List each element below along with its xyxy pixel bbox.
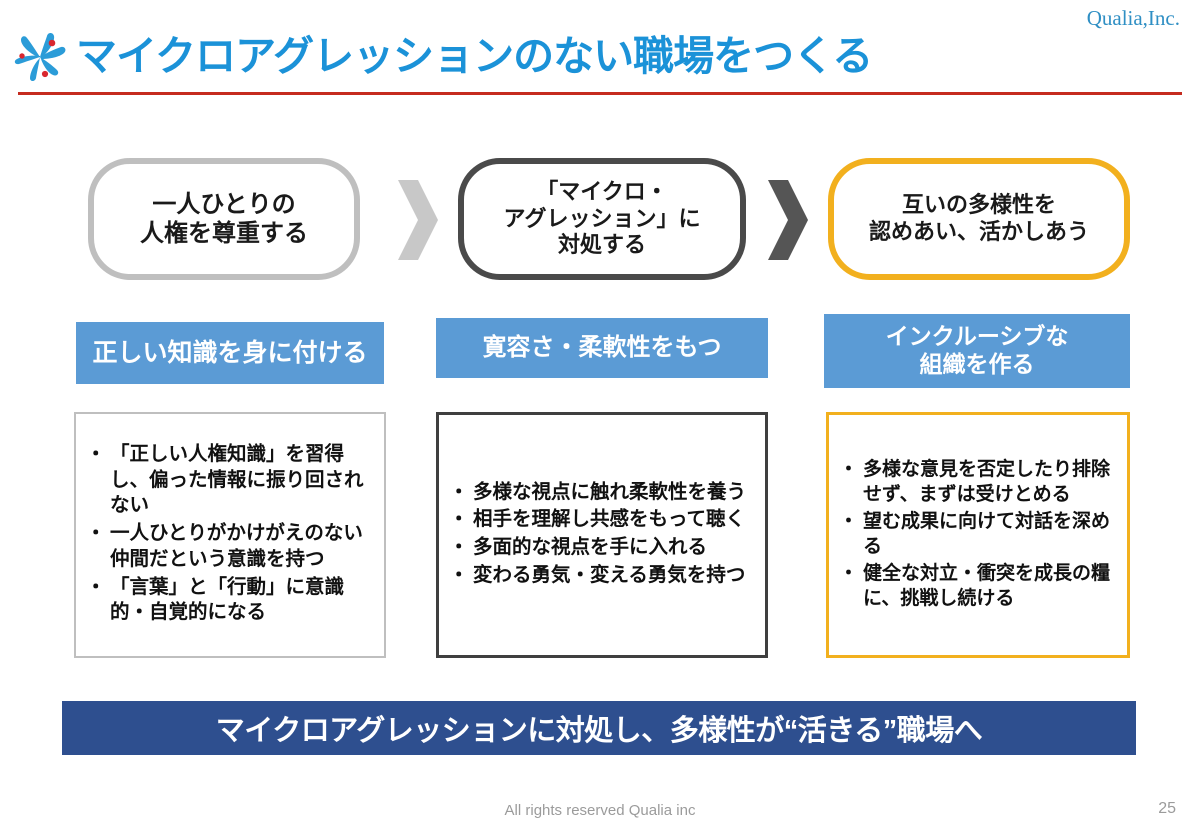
stage-box-3: 互いの多様性を 認めあい、活かしあう [828,158,1130,280]
list-item: 「正しい人権知識」を習得し、偏った情報に振り回されない [88,442,374,519]
caption-bar-3-label: インクルーシブな 組織を作る [886,323,1069,378]
stage-box-2-label: 「マイクロ・ アグレッション」に 対処する [504,179,701,259]
list-item: 望む成果に向けて対話を深める [841,509,1117,559]
caption-bar-1: 正しい知識を身に付ける [76,322,384,384]
page-number: 25 [1158,800,1176,818]
stage-2-line-2: アグレッション」に [504,206,701,231]
caption-bar-1-label: 正しい知識を身に付ける [92,338,367,368]
list-item: 健全な対立・衝突を成長の糧に、挑戦し続ける [841,561,1117,611]
caption-bar-3-line-2: 組織を作る [919,351,1034,377]
bullet-box-3: 多様な意見を否定したり排除せず、まずは受けとめる 望む成果に向けて対話を深める … [826,412,1130,658]
list-item: 多様な視点に触れ柔軟性を養う [451,480,755,506]
page-title: マイクロアグレッションのない職場をつくる [76,36,872,77]
bullet-box-1: 「正しい人権知識」を習得し、偏った情報に振り回されない 一人ひとりがかけがえのな… [74,412,386,658]
stage-1-line-1: 一人ひとりの [152,191,295,218]
stage-1-line-2: 人権を尊重する [140,220,308,247]
list-item: 変わる勇気・変える勇気を持つ [451,563,755,589]
caption-bar-3-line-1: インクルーシブな [886,323,1069,349]
list-item: 多面的な視点を手に入れる [451,535,755,561]
slide-canvas: Qualia,Inc. マイクロアグレッションのない職場をつくる 一人ひとりの [0,0,1200,831]
caption-bar-2-label: 寛容さ・柔軟性をもつ [482,334,721,363]
summary-banner: マイクロアグレッションに対処し、多様性が“活きる”職場へ [62,701,1136,755]
chevron-right-1-icon [396,178,440,262]
bullet-list-2: 多様な視点に触れ柔軟性を養う 相手を理解し共感をもって聴く 多面的な視点を手に入… [439,480,765,591]
chevron-right-2-icon [766,178,810,262]
stage-3-line-1: 互いの多様性を [902,192,1056,217]
list-item: 一人ひとりがかけがえのない仲間だという意識を持つ [88,521,374,572]
caption-bar-2: 寛容さ・柔軟性をもつ [436,318,768,378]
stage-box-1-label: 一人ひとりの 人権を尊重する [140,190,308,249]
list-item: 相手を理解し共感をもって聴く [451,507,755,533]
stage-2-line-1: 「マイクロ・ [536,179,668,204]
list-item: 「言葉」と「行動」に意識的・自覚的になる [88,575,374,626]
bullet-box-2: 多様な視点に触れ柔軟性を養う 相手を理解し共感をもって聴く 多面的な視点を手に入… [436,412,768,658]
bullet-list-3: 多様な意見を否定したり排除せず、まずは受けとめる 望む成果に向けて対話を深める … [829,457,1127,613]
caption-bar-3: インクルーシブな 組織を作る [824,314,1130,388]
bullet-list-1: 「正しい人権知識」を習得し、偏った情報に振り回されない 一人ひとりがかけがえのな… [76,442,384,628]
list-item: 多様な意見を否定したり排除せず、まずは受けとめる [841,457,1117,507]
sparkle-burst-icon [12,29,70,85]
title-underline-rule [18,92,1182,95]
slide-title-row: マイクロアグレッションのない職場をつくる [0,26,1200,88]
footer-copyright: All rights reserved Qualia inc [0,802,1200,819]
stage-box-2: 「マイクロ・ アグレッション」に 対処する [458,158,746,280]
stage-box-3-label: 互いの多様性を 認めあい、活かしあう [869,192,1089,246]
stage-box-1: 一人ひとりの 人権を尊重する [88,158,360,280]
stage-3-line-2: 認めあい、活かしあう [869,219,1089,244]
stage-2-line-3: 対処する [558,232,646,257]
summary-banner-label: マイクロアグレッションに対処し、多様性が“活きる”職場へ [216,707,982,749]
